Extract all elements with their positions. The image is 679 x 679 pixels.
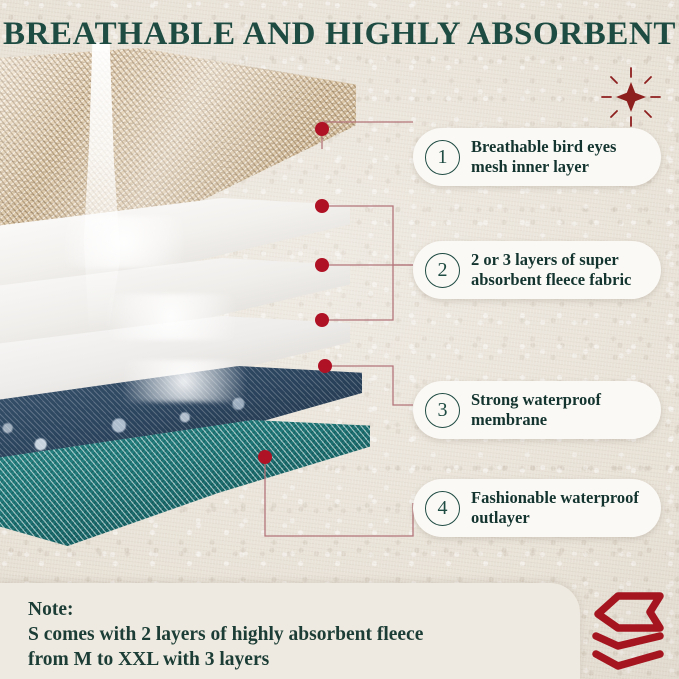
layers-stack-icon	[588, 588, 674, 674]
sparkle-star-icon	[600, 66, 662, 128]
callout-item-3[interactable]: 3 Strong waterproof membrane	[413, 381, 661, 439]
callout-label-4: Fashionable waterproof outlayer	[471, 488, 639, 528]
callout-number-1: 1	[425, 140, 460, 175]
callout-number-4: 4	[425, 491, 460, 526]
water-splash-c	[124, 360, 244, 402]
fabric-layer-cross-section	[0, 48, 386, 528]
note-text: Note: S comes with 2 layers of highly ab…	[28, 597, 528, 672]
callout-label-3: Strong waterproof membrane	[471, 390, 601, 430]
water-splash-b	[106, 294, 236, 340]
callout-item-2[interactable]: 2 2 or 3 layers of super absorbent fleec…	[413, 241, 661, 299]
callout-item-1[interactable]: 1 Breathable bird eyes mesh inner layer	[413, 128, 661, 186]
note-card: Note: S comes with 2 layers of highly ab…	[0, 583, 580, 679]
water-splash-a	[64, 216, 184, 268]
page-title: BREATHABLE AND HIGHLY ABSORBENT	[0, 16, 679, 53]
callout-label-2: 2 or 3 layers of super absorbent fleece …	[471, 250, 631, 290]
callout-label-1: Breathable bird eyes mesh inner layer	[471, 137, 616, 177]
callout-number-3: 3	[425, 393, 460, 428]
callout-number-2: 2	[425, 253, 460, 288]
callout-item-4[interactable]: 4 Fashionable waterproof outlayer	[413, 479, 661, 537]
infographic-canvas: BREATHABLE AND HIGHLY ABSORBENT 1 Breath…	[0, 0, 679, 679]
